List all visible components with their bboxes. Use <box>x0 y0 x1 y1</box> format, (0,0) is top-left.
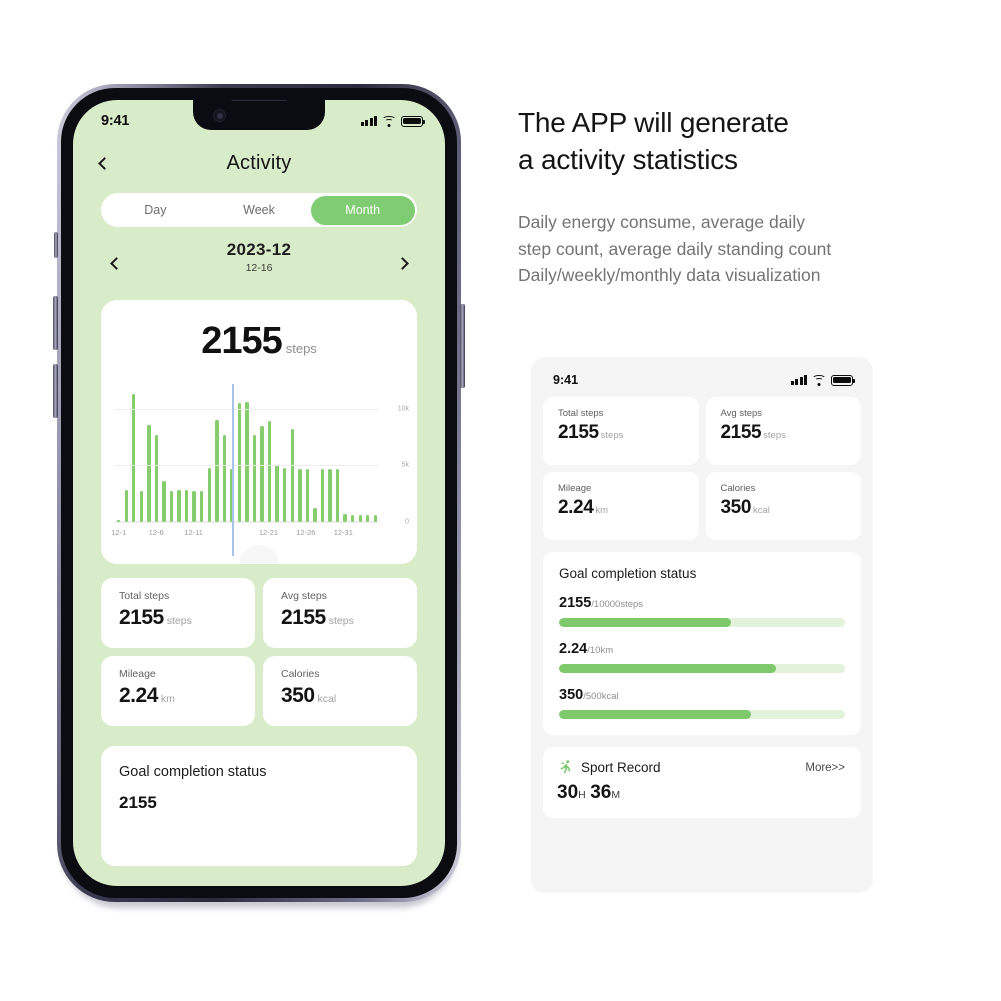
phone-mockup: 9:41 Activity Day <box>57 84 461 908</box>
chart-bar <box>268 421 271 522</box>
stat-unit: steps <box>601 430 624 441</box>
stat-value: 2155 <box>558 422 599 443</box>
panel-stat-card-calories[interactable]: Calories 350kcal <box>706 472 862 540</box>
chevron-left-icon <box>98 157 111 170</box>
stat-label: Avg steps <box>281 590 417 602</box>
battery-full-icon <box>401 116 423 127</box>
stat-unit: km <box>161 693 175 705</box>
goal-target: /10km <box>587 645 613 656</box>
stat-label: Mileage <box>558 483 699 494</box>
goal-completion-title: Goal completion status <box>119 764 399 780</box>
next-period-button[interactable] <box>389 250 415 276</box>
wifi-icon <box>382 116 396 127</box>
chart-bar <box>283 468 286 522</box>
steps-chart-card: 2155steps 10k5k0 12-112-612-1112-1612-21… <box>101 300 417 564</box>
chart-bar <box>215 420 218 522</box>
current-period-label: 2023-12 <box>93 240 425 260</box>
running-person-icon <box>557 759 574 776</box>
date-navigator: 2023-12 12-16 <box>93 240 425 290</box>
panel-stat-card-total-steps[interactable]: Total steps 2155steps <box>543 397 699 465</box>
stat-label: Calories <box>721 483 862 494</box>
summary-steps: 2155steps <box>101 300 417 363</box>
signal-bars-icon <box>791 375 808 385</box>
chart-bar <box>253 435 256 522</box>
chart-bar <box>260 426 263 522</box>
stat-card-total-steps[interactable]: Total steps 2155steps <box>101 578 255 648</box>
stat-card-grid: Total steps 2155steps Avg steps 2155step… <box>101 578 417 726</box>
stat-unit: steps <box>329 615 354 627</box>
panel-status-bar: 9:41 <box>543 357 861 397</box>
stat-unit: steps <box>167 615 192 627</box>
earpiece-speaker <box>230 100 288 101</box>
chart-bar <box>125 490 128 522</box>
sport-record-header: Sport Record More>> <box>557 759 845 776</box>
summary-steps-unit: steps <box>286 341 317 356</box>
app-header: Activity <box>73 140 445 186</box>
status-bar-time: 9:41 <box>101 113 129 129</box>
sport-duration: 30H 36M <box>557 782 845 804</box>
chevron-right-icon <box>396 257 409 270</box>
page-title: Activity <box>227 152 292 175</box>
chart-bar <box>343 514 346 522</box>
stat-value: 2155 <box>281 606 326 629</box>
battery-full-icon <box>831 375 853 386</box>
chart-bar <box>328 469 331 522</box>
goal-first-value: 2155 <box>119 793 399 813</box>
goal-value: 2155 <box>559 595 591 611</box>
phone-screen: 9:41 Activity Day <box>73 100 445 886</box>
period-segmented-control[interactable]: Day Week Month <box>101 193 417 227</box>
phone-notch <box>193 100 325 130</box>
panel-sport-record-card[interactable]: Sport Record More>> 30H 36M <box>543 747 861 818</box>
goal-progress-fill <box>559 618 731 627</box>
chart-bar <box>306 469 309 522</box>
stat-card-avg-steps[interactable]: Avg steps 2155steps <box>263 578 417 648</box>
sport-hours-unit: H <box>578 789 586 801</box>
chart-x-tick-label: 12-31 <box>334 528 353 537</box>
stat-label: Avg steps <box>721 408 862 419</box>
panel-stat-card-mileage[interactable]: Mileage 2.24km <box>543 472 699 540</box>
tab-week[interactable]: Week <box>207 196 311 225</box>
stat-unit: kcal <box>753 505 770 516</box>
headline-line-1: The APP will generate <box>518 105 988 142</box>
stat-unit: km <box>595 505 608 516</box>
chart-bar <box>200 491 203 522</box>
chart-bar <box>192 491 195 522</box>
goal-row-steps: 2155/10000steps <box>559 594 845 627</box>
stat-label: Total steps <box>558 408 699 419</box>
summary-steps-value: 2155 <box>201 320 282 362</box>
chart-bar <box>223 435 226 522</box>
subcopy-line-1: Daily energy consume, average daily <box>518 209 988 236</box>
panel-stat-card-avg-steps[interactable]: Avg steps 2155steps <box>706 397 862 465</box>
sport-hours: 30 <box>557 782 578 803</box>
goal-progress-fill <box>559 664 776 673</box>
goal-value: 2.24 <box>559 641 587 657</box>
chart-bar <box>185 490 188 522</box>
stat-value: 2.24 <box>558 497 593 518</box>
tab-month[interactable]: Month <box>311 196 415 225</box>
chart-bar <box>162 481 165 522</box>
chart-bar <box>170 491 173 522</box>
stat-label: Calories <box>281 668 417 680</box>
chart-x-tick-label: 12-6 <box>149 528 164 537</box>
tab-day[interactable]: Day <box>104 196 208 225</box>
stat-value: 2.24 <box>119 684 158 707</box>
silent-switch-button[interactable] <box>54 232 58 258</box>
date-display: 2023-12 12-16 <box>93 240 425 274</box>
secondary-app-panel: 9:41 Total steps 2155steps Avg steps 215… <box>531 357 873 893</box>
previous-period-button[interactable] <box>103 250 129 276</box>
chart-bar <box>321 469 324 522</box>
chart-x-tick-label: 12-11 <box>184 528 203 537</box>
chart-bar <box>245 402 248 522</box>
goal-progress-bar-mileage <box>559 664 845 673</box>
headline: The APP will generate a activity statist… <box>518 105 988 179</box>
front-camera-icon <box>213 109 226 122</box>
subcopy-line-3: Daily/weekly/monthly data visualization <box>518 262 988 289</box>
phone-frame: 9:41 Activity Day <box>57 84 461 902</box>
goal-target: /500kcal <box>583 691 618 702</box>
chart-gridline <box>115 465 379 466</box>
phone-bezel: 9:41 Activity Day <box>61 88 457 898</box>
volume-down-button[interactable] <box>53 364 58 418</box>
chart-bar <box>132 394 135 522</box>
wifi-icon <box>812 375 826 386</box>
stat-label: Mileage <box>119 668 255 680</box>
stat-card-calories[interactable]: Calories 350kcal <box>263 656 417 726</box>
subcopy: Daily energy consume, average daily step… <box>518 209 988 289</box>
chart-bar <box>313 508 316 522</box>
selected-day-label: 12-16 <box>93 262 425 274</box>
chart-gridline <box>115 409 379 410</box>
chart-gridline-label: 10k <box>398 405 409 412</box>
goal-target: /10000steps <box>591 599 643 610</box>
chart-bar <box>275 465 278 522</box>
sport-minutes: 36 <box>590 782 611 803</box>
panel-stat-grid: Total steps 2155steps Avg steps 2155step… <box>543 397 861 540</box>
power-button[interactable] <box>460 304 465 388</box>
sport-record-label: Sport Record <box>581 760 805 775</box>
goal-progress-fill <box>559 710 751 719</box>
goal-row-mileage: 2.24/10km <box>559 640 845 673</box>
headline-line-2: a activity statistics <box>518 142 988 179</box>
stat-value: 2155 <box>721 422 762 443</box>
chart-bar <box>374 515 377 522</box>
chart-bar <box>140 491 143 522</box>
chart-x-tick-label: 12-1 <box>111 528 126 537</box>
chart-bar <box>359 515 362 522</box>
steps-bar-chart[interactable]: 10k5k0 <box>115 392 409 522</box>
card-bottom-notch <box>239 545 279 564</box>
back-button[interactable] <box>91 150 117 176</box>
chevron-left-icon <box>110 257 123 270</box>
stat-value: 350 <box>281 684 315 707</box>
stat-card-mileage[interactable]: Mileage 2.24km <box>101 656 255 726</box>
chart-bar <box>208 468 211 522</box>
stat-value: 350 <box>721 497 752 518</box>
panel-goal-card: Goal completion status 2155/10000steps 2… <box>543 552 861 735</box>
sport-minutes-unit: M <box>611 789 620 801</box>
chart-gridline <box>115 522 379 523</box>
more-link[interactable]: More>> <box>805 762 845 774</box>
chart-bar <box>238 403 241 522</box>
chart-bars <box>117 392 377 522</box>
chart-x-tick-label: 12-21 <box>259 528 278 537</box>
stat-label: Total steps <box>119 590 255 602</box>
chart-gridline-label: 5k <box>402 462 409 469</box>
chart-bar <box>147 425 150 522</box>
goal-value: 350 <box>559 687 583 703</box>
panel-status-indicators <box>791 375 854 386</box>
chart-gridline-label: 0 <box>405 519 409 526</box>
chart-bar <box>351 515 354 522</box>
signal-bars-icon <box>361 116 378 126</box>
stat-unit: kcal <box>318 693 337 705</box>
stat-value: 2155 <box>119 606 164 629</box>
subcopy-line-2: step count, average daily standing count <box>518 236 988 263</box>
goal-row-calories: 350/500kcal <box>559 686 845 719</box>
chart-bar <box>298 469 301 522</box>
marketing-copy: The APP will generate a activity statist… <box>518 105 988 289</box>
chart-bar <box>336 469 339 522</box>
chart-bar <box>291 429 294 522</box>
chart-bar <box>366 515 369 522</box>
chart-bar <box>155 435 158 522</box>
goal-progress-bar-calories <box>559 710 845 719</box>
goal-completion-card[interactable]: Goal completion status 2155 <box>101 746 417 866</box>
chart-bar <box>177 490 180 522</box>
chart-x-tick-label: 12-26 <box>296 528 315 537</box>
volume-up-button[interactable] <box>53 296 58 350</box>
status-bar-indicators <box>361 116 424 127</box>
chart-x-axis-labels: 12-112-612-1112-1612-2112-2612-31 <box>115 528 377 542</box>
panel-status-time: 9:41 <box>553 373 578 387</box>
panel-goal-title: Goal completion status <box>559 566 845 581</box>
stat-unit: steps <box>763 430 786 441</box>
goal-progress-bar-steps <box>559 618 845 627</box>
